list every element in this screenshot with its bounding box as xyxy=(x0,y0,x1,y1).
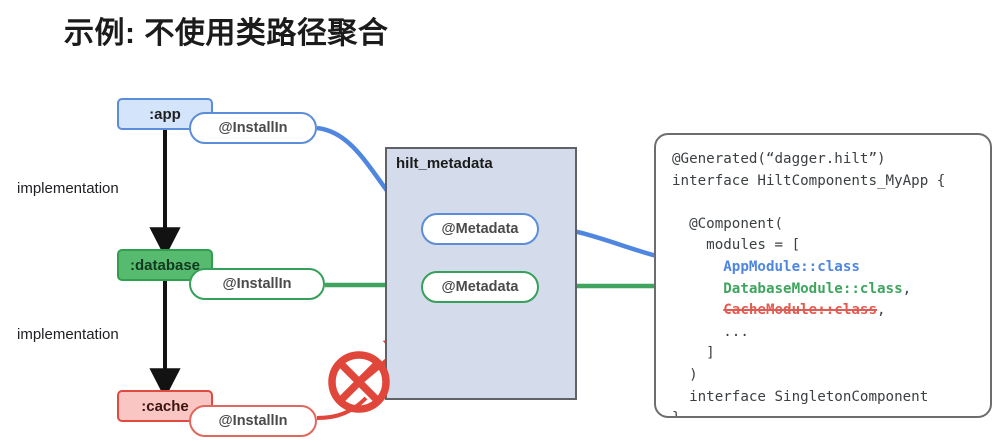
annotation-pill-installin-cache[interactable]: @InstallIn xyxy=(189,405,317,437)
code-line: @Generated(“dagger.hilt”) xyxy=(672,149,945,171)
code-line xyxy=(672,192,945,214)
code-token: AppModule::class xyxy=(723,259,860,275)
annotation-label: @Metadata xyxy=(442,279,519,295)
code-line: interface SingletonComponent xyxy=(672,387,945,409)
code-token: DatabaseModule::class xyxy=(723,281,902,297)
annotation-pill-installin-app[interactable]: @InstallIn xyxy=(189,112,317,144)
diagram-canvas: 示例: 不使用类路径聚合 xyxy=(0,0,998,442)
code-token: interface SingletonComponent xyxy=(672,389,928,405)
code-line: AppModule::class xyxy=(672,257,945,279)
annotation-label: @InstallIn xyxy=(219,413,288,429)
code-line: } xyxy=(672,408,945,418)
module-label-cache: :cache xyxy=(141,398,189,415)
code-token: ... xyxy=(672,324,749,340)
code-token: modules = [ xyxy=(672,237,800,253)
code-line: ) xyxy=(672,365,945,387)
code-token xyxy=(672,302,723,318)
annotation-pill-metadata-app[interactable]: @Metadata xyxy=(421,213,539,245)
code-line: interface HiltComponents_MyApp { xyxy=(672,171,945,193)
hilt-metadata-label: hilt_metadata xyxy=(396,155,493,172)
annotation-label: @InstallIn xyxy=(223,276,292,292)
code-line: ] xyxy=(672,343,945,365)
code-line: DatabaseModule::class, xyxy=(672,279,945,301)
code-token: ] xyxy=(672,345,715,361)
page-title: 示例: 不使用类路径聚合 xyxy=(64,8,388,52)
module-label-app: :app xyxy=(149,106,181,123)
code-token: } xyxy=(672,410,681,418)
annotation-pill-metadata-database[interactable]: @Metadata xyxy=(421,271,539,303)
code-token: ) xyxy=(672,367,698,383)
annotation-label: @Metadata xyxy=(442,221,519,237)
code-line: CacheModule::class, xyxy=(672,300,945,322)
edge-label-implementation-app-database: implementation xyxy=(17,180,119,197)
code-token: interface HiltComponents_MyApp { xyxy=(672,173,945,189)
edge-label-implementation-database-cache: implementation xyxy=(17,326,119,343)
generated-code-text: @Generated(“dagger.hilt”)interface HiltC… xyxy=(672,149,945,418)
module-label-database: :database xyxy=(130,257,200,274)
prohibited-circle-icon xyxy=(324,347,394,417)
code-token: , xyxy=(903,281,912,297)
code-token: @Component( xyxy=(672,216,783,232)
generated-code-panel: @Generated(“dagger.hilt”)interface HiltC… xyxy=(654,133,992,418)
code-token: CacheModule::class xyxy=(723,302,877,318)
code-line: modules = [ xyxy=(672,235,945,257)
code-token xyxy=(672,259,723,275)
annotation-label: @InstallIn xyxy=(219,120,288,136)
code-token: @Generated(“dagger.hilt”) xyxy=(672,151,886,167)
code-line: ... xyxy=(672,322,945,344)
code-token: , xyxy=(877,302,886,318)
code-line: @Component( xyxy=(672,214,945,236)
code-token xyxy=(672,281,723,297)
annotation-pill-installin-database[interactable]: @InstallIn xyxy=(189,268,325,300)
